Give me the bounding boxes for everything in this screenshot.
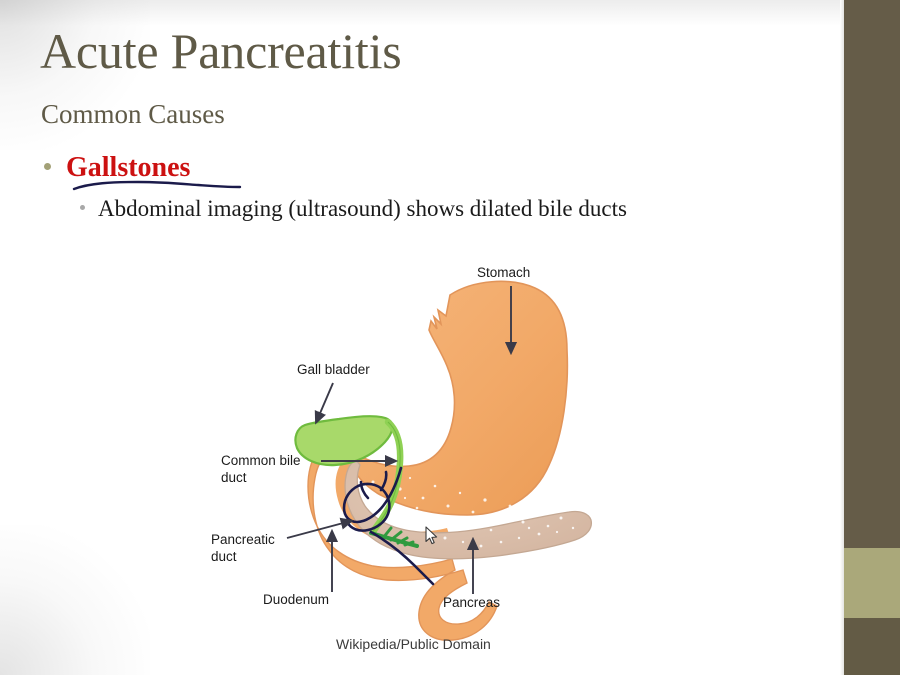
label-gall-bladder: Gall bladder <box>297 362 370 418</box>
page-subtitle: Common Causes <box>41 99 225 130</box>
label-duodenum-text: Duodenum <box>263 592 329 607</box>
page-title: Acute Pancreatitis <box>40 25 402 78</box>
slide-canvas: Acute Pancreatitis Common Causes Gallsto… <box>0 0 900 675</box>
vignette-bottom-left <box>0 525 150 675</box>
label-gall-bladder-text: Gall bladder <box>297 362 370 377</box>
label-stomach-text: Stomach <box>477 265 530 280</box>
label-common-bile-duct-line2: duct <box>221 470 247 485</box>
label-common-bile-duct-line1: Common bile <box>221 453 301 468</box>
sidebar-band-top <box>844 0 900 548</box>
bullet-item-imaging: Abdominal imaging (ultrasound) shows dil… <box>80 196 627 222</box>
sidebar-band-bottom <box>844 618 900 675</box>
sidebar-band-middle <box>844 548 900 618</box>
bullet-dot-icon <box>44 163 51 170</box>
label-pancreatic-duct-line1: Pancreatic <box>211 532 275 547</box>
ink-underline-annotation <box>72 178 242 192</box>
label-pancreas-text: Pancreas <box>443 595 500 610</box>
gall-bladder-organ <box>295 416 392 465</box>
bullet-dot-sub-icon <box>80 205 85 210</box>
image-credit-caption: Wikipedia/Public Domain <box>336 636 491 652</box>
label-pancreatic-duct-line2: duct <box>211 549 237 564</box>
anatomy-diagram: Stomach Gall bladder Common bile duct Pa… <box>205 250 605 660</box>
stomach-organ <box>351 281 567 515</box>
bullet-label-imaging: Abdominal imaging (ultrasound) shows dil… <box>98 196 627 222</box>
